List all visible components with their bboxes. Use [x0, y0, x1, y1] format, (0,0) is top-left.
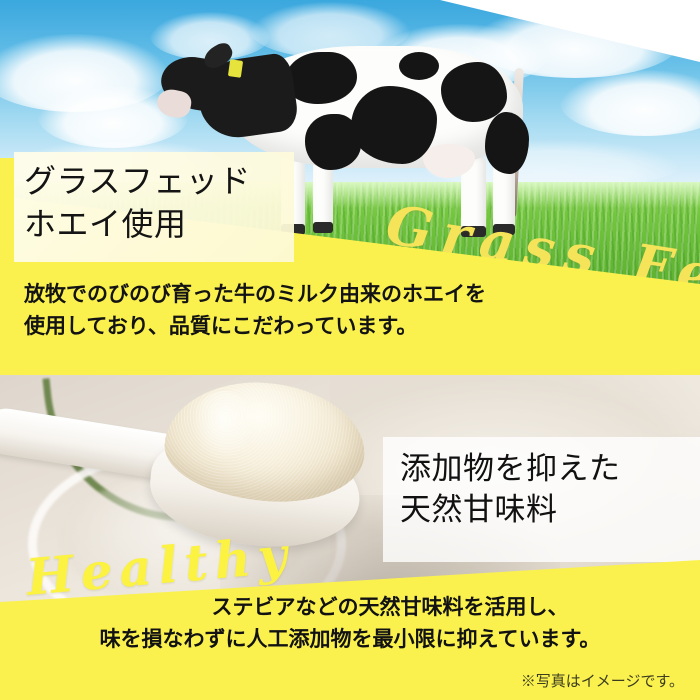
heading-bottom-line-1: 添加物を抑えた: [400, 448, 700, 489]
heading-top-line-2: ホエイ使用: [24, 203, 304, 246]
body-top-line-1: 放牧でのびのび育った牛のミルク由来のホエイを: [24, 278, 544, 310]
product-feature-banner: Grass Fed グラスフェッド ホエイ使用 放牧でのびのび育った牛のミルク由…: [0, 0, 700, 700]
body-bottom-line-1: ステビアなどの天然甘味料を活用し、: [0, 592, 700, 624]
body-copy-top: 放牧でのびのび育った牛のミルク由来のホエイを 使用しており、品質にこだわっていま…: [24, 278, 544, 342]
section-grass-fed-whey: Grass Fed グラスフェッド ホエイ使用 放牧でのびのび育った牛のミルク由…: [0, 0, 700, 375]
cow-ear-tag-icon: [228, 59, 243, 78]
cow-spot: [305, 114, 361, 170]
body-copy-bottom: ステビアなどの天然甘味料を活用し、 味を損なわずに人工添加物を最小限に抑えていま…: [0, 592, 700, 656]
photo-disclaimer-note: ※写真はイメージです。: [521, 670, 684, 691]
yellow-accent-stripe: [0, 158, 14, 228]
cow-spot: [441, 62, 507, 122]
heading-bottom-line-2: 天然甘味料: [400, 489, 700, 530]
cow-spot: [485, 112, 529, 174]
heading-top-line-1: グラスフェッド: [24, 160, 304, 203]
cow-spot: [399, 52, 439, 80]
cow-hoof: [313, 222, 333, 233]
body-top-line-2: 使用しており、品質にこだわっています。: [24, 310, 544, 342]
body-bottom-line-2: 味を損なわずに人工添加物を最小限に抑えています。: [0, 624, 700, 656]
heading-top: グラスフェッド ホエイ使用: [24, 160, 304, 245]
powder-highlight: [192, 391, 254, 461]
heading-bottom: 添加物を抑えた 天然甘味料: [400, 448, 700, 530]
